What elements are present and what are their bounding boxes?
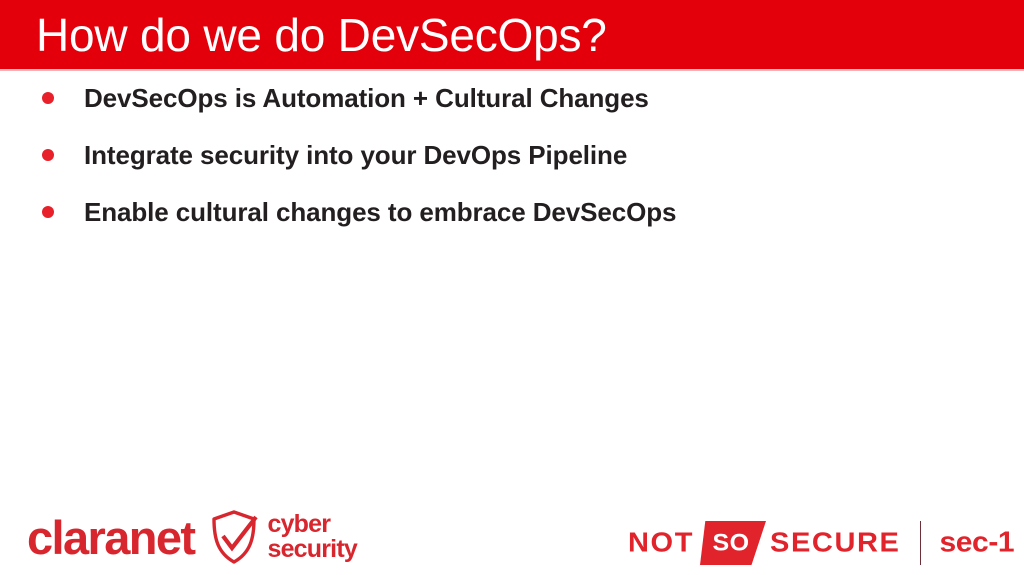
- bullet-text: Integrate security into your DevOps Pipe…: [84, 139, 627, 171]
- notsosecure-word-not: NOT: [628, 527, 694, 558]
- claranet-wordmark: claranet: [27, 514, 194, 561]
- list-item: Integrate security into your DevOps Pipe…: [36, 139, 986, 196]
- claranet-tagline-line1: cyber: [267, 512, 357, 537]
- bullet-list: DevSecOps is Automation + Cultural Chang…: [36, 82, 986, 253]
- bullet-dot-icon: [42, 92, 54, 104]
- claranet-tagline-line2: security: [267, 537, 357, 562]
- slide: How do we do DevSecOps? DevSecOps is Aut…: [0, 0, 1024, 575]
- title-banner: How do we do DevSecOps?: [0, 0, 1024, 69]
- logo-divider: [920, 521, 921, 565]
- bullet-dot-icon: [42, 206, 54, 218]
- list-item: DevSecOps is Automation + Cultural Chang…: [36, 82, 986, 139]
- slide-title: How do we do DevSecOps?: [36, 5, 607, 65]
- notsosecure-word-secure: SECURE: [770, 527, 900, 558]
- shield-check-icon: [207, 508, 261, 566]
- bullet-text: DevSecOps is Automation + Cultural Chang…: [84, 82, 649, 114]
- bullet-dot-icon: [42, 149, 54, 161]
- notsosecure-badge-label: SO: [712, 529, 749, 557]
- title-banner-underline: [0, 69, 1024, 71]
- claranet-cyber-security-logo: claranet cyber security: [27, 505, 357, 569]
- partner-logos: NOT SO SECURE sec-1: [628, 518, 1014, 568]
- notsosecure-logo: NOT SO SECURE: [628, 523, 900, 563]
- list-item: Enable cultural changes to embrace DevSe…: [36, 196, 986, 253]
- claranet-tagline: cyber security: [267, 512, 357, 562]
- bullet-text: Enable cultural changes to embrace DevSe…: [84, 196, 676, 228]
- sec1-wordmark: sec-1: [939, 527, 1014, 560]
- notsosecure-so-badge: SO: [700, 521, 766, 565]
